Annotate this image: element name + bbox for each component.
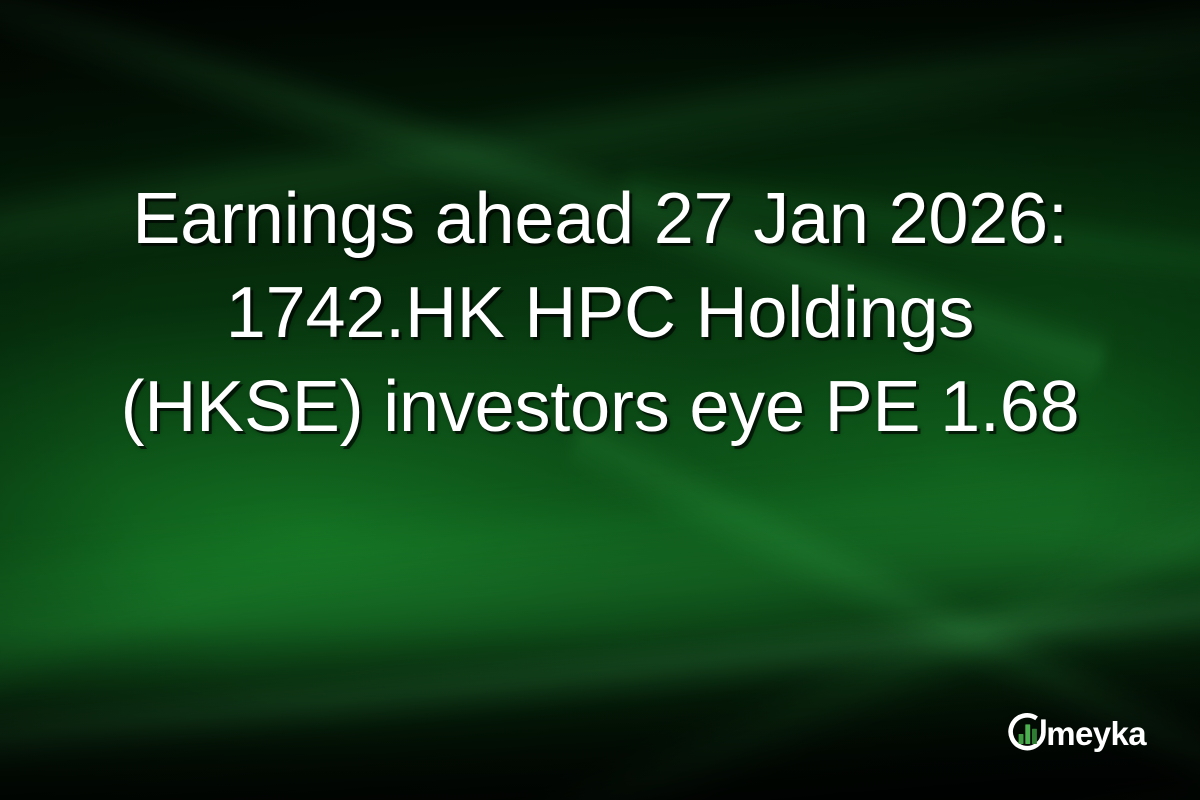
meyka-logo: meyka: [1005, 710, 1146, 756]
headline-line-2: 1742.HK HPC Holdings: [30, 266, 1170, 360]
social-share-card: Earnings ahead 27 Jan 2026: 1742.HK HPC …: [0, 0, 1200, 800]
meyka-ring-bars-icon: [1005, 711, 1049, 755]
headline-line-3: (HKSE) investors eye PE 1.68: [30, 360, 1170, 454]
headline-block: Earnings ahead 27 Jan 2026: 1742.HK HPC …: [0, 172, 1200, 454]
headline-line-1: Earnings ahead 27 Jan 2026:: [30, 172, 1170, 266]
meyka-wordmark: meyka: [1046, 717, 1146, 750]
